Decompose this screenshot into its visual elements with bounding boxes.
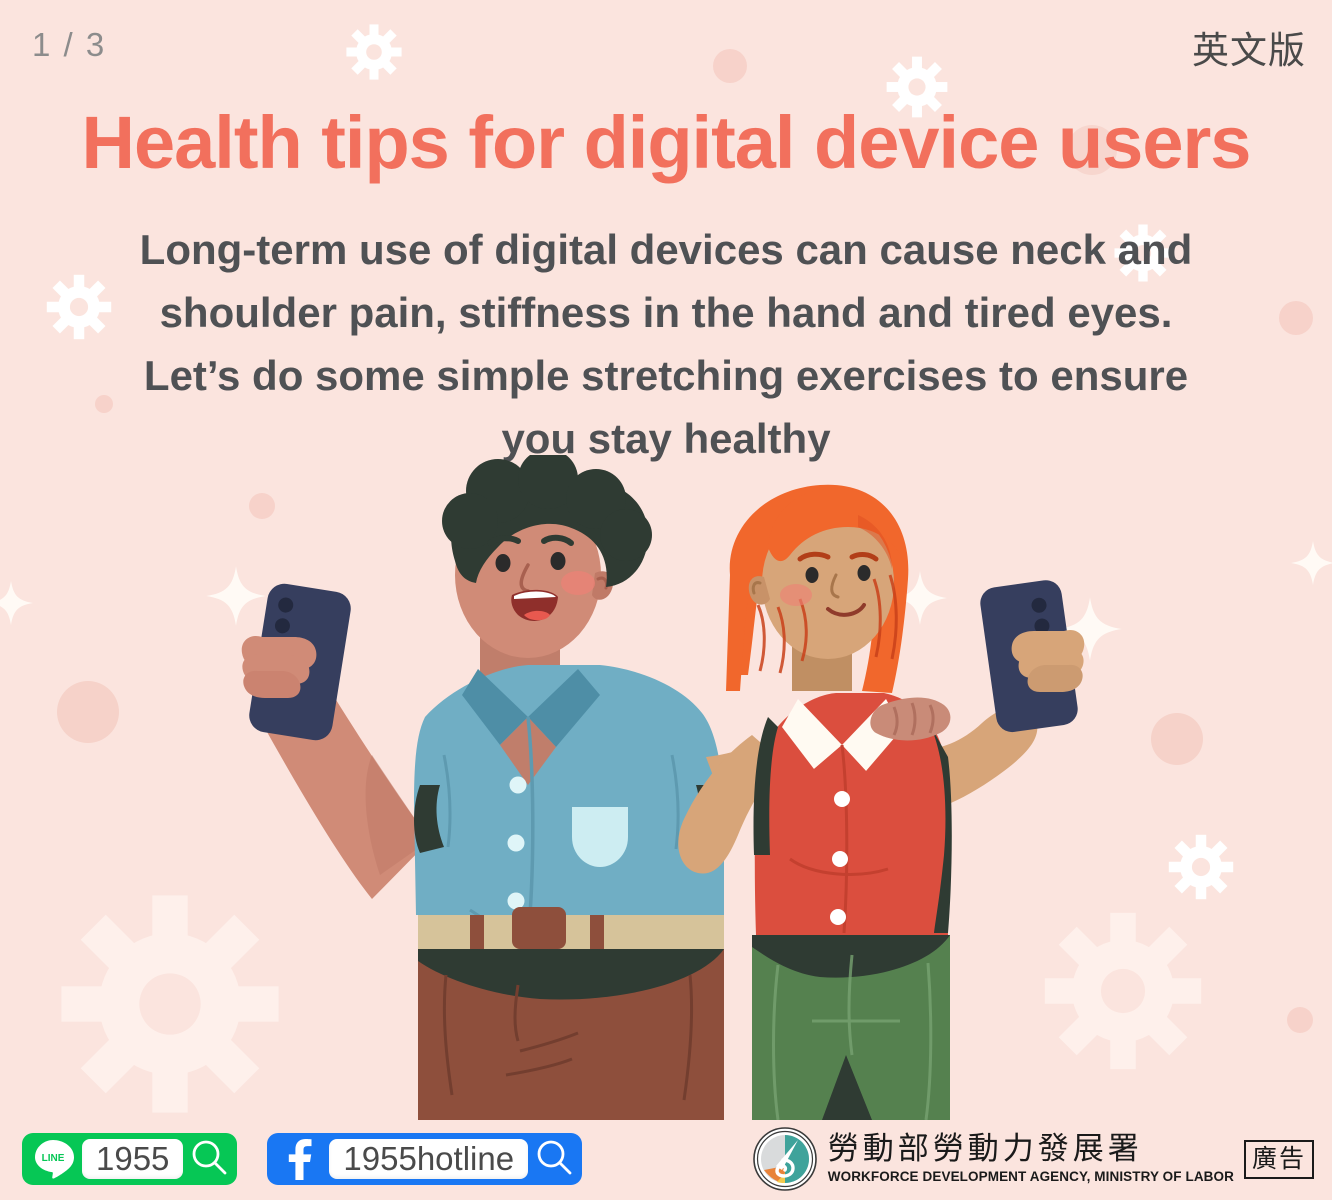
line-contact-badge[interactable]: LINE 1955 [22,1133,237,1185]
subtitle-line: Long-term use of digital devices can cau… [90,218,1242,281]
page-subtitle: Long-term use of digital devices can cau… [90,218,1242,470]
subtitle-line: Let’s do some simple stretching exercise… [90,344,1242,407]
line-icon: LINE [31,1138,75,1180]
facebook-page-value: 1955hotline [329,1139,528,1179]
language-badge: 英文版 [1192,20,1306,74]
woman-hand-with-phone [978,578,1084,734]
line-id-value: 1955 [82,1139,183,1179]
ad-badge: 廣告 [1244,1140,1314,1179]
facebook-icon [276,1138,322,1180]
poster-canvas: 1 / 3 英文版 Health tips for digital device… [0,0,1332,1200]
footer-bar: LINE 1955 1955hotline [0,1118,1332,1200]
search-icon[interactable] [190,1138,228,1181]
page-indicator: 1 / 3 [32,26,106,64]
man-belt [418,915,724,949]
search-icon[interactable] [535,1138,573,1181]
woman-figure [678,485,1084,1120]
svg-text:LINE: LINE [42,1153,65,1164]
agency-name-zh: 勞動部勞動力發展署 [828,1134,1234,1165]
agency-seal-icon [752,1126,818,1192]
man-shirt-pocket [572,807,628,867]
subtitle-line: shoulder pain, stiffness in the hand and… [90,281,1242,344]
illustration-two-people-with-phones [0,455,1332,1120]
facebook-contact-badge[interactable]: 1955hotline [267,1133,582,1185]
agency-text: 勞動部勞動力發展署 WORKFORCE DEVELOPMENT AGENCY, … [828,1134,1234,1184]
agency-block: 勞動部勞動力發展署 WORKFORCE DEVELOPMENT AGENCY, … [752,1126,1314,1192]
agency-name-en: WORKFORCE DEVELOPMENT AGENCY, MINISTRY O… [828,1170,1234,1184]
page-title: Health tips for digital device users [0,100,1332,185]
